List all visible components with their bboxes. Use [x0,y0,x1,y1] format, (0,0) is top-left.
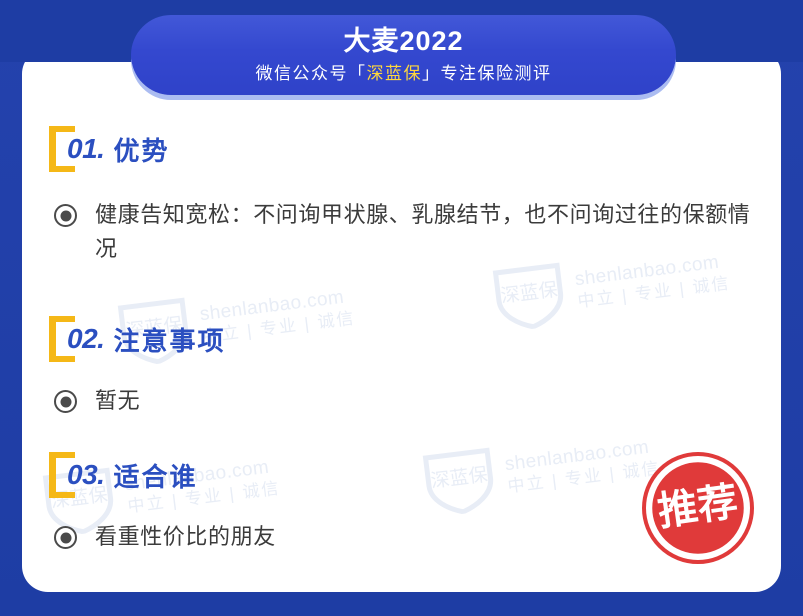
header-banner: 大麦2022 微信公众号「深蓝保」专注保险测评 [131,15,676,95]
bullet-icon [54,526,77,549]
section-number: 01. [67,133,104,165]
list-item-text: 看重性价比的朋友 [95,520,276,554]
subtitle-brand: 深蓝保 [367,64,423,83]
section-heading-01: 01. 优势 [49,126,169,172]
section-title: 注意事项 [113,321,225,358]
recommend-stamp-icon: 推荐 [640,450,756,566]
section-number: 02. [67,323,104,355]
section-number: 03. [67,459,104,491]
subtitle-suffix: 」专注保险测评 [422,64,552,83]
list-item-text: 暂无 [95,384,140,418]
page-title: 大麦2022 [343,26,463,57]
section-title: 适合谁 [113,457,197,494]
section-heading-03: 03. 适合谁 [49,452,197,498]
list-item: 健康告知宽松：不问询甲状腺、乳腺结节，也不问询过往的保额情况 [54,198,764,266]
list-item-text: 健康告知宽松：不问询甲状腺、乳腺结节，也不问询过往的保额情况 [95,198,755,266]
subtitle-prefix: 微信公众号「 [256,64,367,83]
bullet-icon [54,204,77,227]
bullet-icon [54,390,77,413]
section-title: 优势 [113,131,169,168]
list-item: 暂无 [54,384,764,418]
page-subtitle: 微信公众号「深蓝保」专注保险测评 [256,59,552,84]
section-heading-02: 02. 注意事项 [49,316,225,362]
